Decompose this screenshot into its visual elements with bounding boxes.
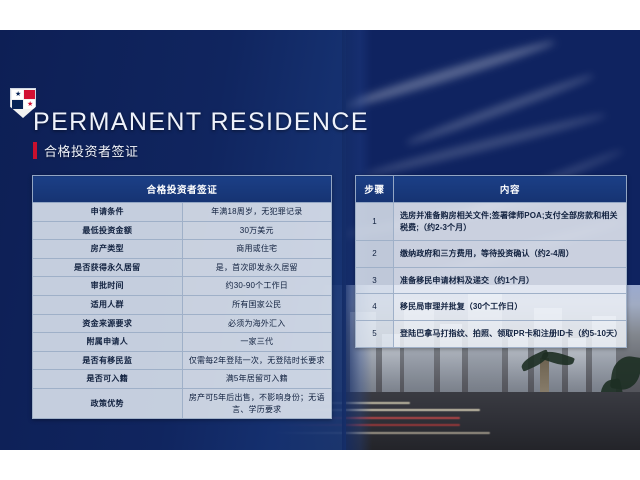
row-key: 资金来源要求: [33, 314, 183, 333]
row-value: 仅需每2年登陆一次，无登陆时长要求: [182, 351, 332, 370]
row-value: 约30-90个工作日: [182, 277, 332, 296]
page-title: PERMANENT RESIDENCE: [33, 108, 369, 137]
row-key: 申请条件: [33, 203, 183, 222]
table-row: 审批时间约30-90个工作日: [33, 277, 332, 296]
step-number: 2: [356, 241, 394, 268]
row-key: 是否有移民监: [33, 351, 183, 370]
table-row: 附属申请人一家三代: [33, 333, 332, 352]
table-row: 4移民局审理并批复（30个工作日）: [356, 294, 627, 321]
process-steps-table: 步骤 内容 1选房并准备购房相关文件;签署律师POA;支付全部房款和相关税费;（…: [355, 175, 627, 348]
table-header-row: 步骤 内容: [356, 176, 627, 203]
row-key: 是否获得永久居留: [33, 258, 183, 277]
row-key: 房产类型: [33, 240, 183, 259]
step-number: 4: [356, 294, 394, 321]
step-number: 3: [356, 267, 394, 294]
page-subtitle: 合格投资者签证: [33, 141, 139, 160]
row-value: 是，首次即发永久居留: [182, 258, 332, 277]
step-number: 1: [356, 203, 394, 241]
row-value: 满5年居留可入籍: [182, 370, 332, 389]
row-key: 是否可入籍: [33, 370, 183, 389]
table-row: 政策优势房产可5年后出售，不影响身份；无语言、学历要求: [33, 388, 332, 418]
step-content: 选房并准备购房相关文件;签署律师POA;支付全部房款和相关税费;（约2-3个月）: [394, 203, 627, 241]
right-table-body: 1选房并准备购房相关文件;签署律师POA;支付全部房款和相关税费;（约2-3个月…: [356, 203, 627, 348]
left-table-body: 申请条件年满18周岁，无犯罪记录最低投资金额30万美元房产类型商用或住宅是否获得…: [33, 203, 332, 419]
shield-star-red: ★: [27, 101, 33, 108]
row-value: 必须为海外汇入: [182, 314, 332, 333]
row-value: 房产可5年后出售，不影响身份；无语言、学历要求: [182, 388, 332, 418]
table-row: 房产类型商用或住宅: [33, 240, 332, 259]
table-row: 适用人群所有国家公民: [33, 295, 332, 314]
investor-visa-table: 合格投资者签证 申请条件年满18周岁，无犯罪记录最低投资金额30万美元房产类型商…: [32, 175, 332, 419]
table-row: 最低投资金额30万美元: [33, 221, 332, 240]
table-row: 资金来源要求必须为海外汇入: [33, 314, 332, 333]
row-value: 30万美元: [182, 221, 332, 240]
step-content: 准备移民申请材料及递交（约1个月）: [394, 267, 627, 294]
table-row: 是否可入籍满5年居留可入籍: [33, 370, 332, 389]
shield-quadrant-top-right: [24, 90, 35, 99]
row-key: 政策优势: [33, 388, 183, 418]
content-column-header: 内容: [394, 176, 627, 203]
row-key: 适用人群: [33, 295, 183, 314]
row-key: 最低投资金额: [33, 221, 183, 240]
subtitle-accent-bar: [33, 142, 37, 159]
left-table-header: 合格投资者签证: [33, 176, 332, 203]
row-value: 商用或住宅: [182, 240, 332, 259]
table-row: 是否获得永久居留是，首次即发永久居留: [33, 258, 332, 277]
table-row: 申请条件年满18周岁，无犯罪记录: [33, 203, 332, 222]
table-row: 是否有移民监仅需每2年登陆一次，无登陆时长要求: [33, 351, 332, 370]
row-value: 一家三代: [182, 333, 332, 352]
shield-quadrant-bottom-left: [12, 100, 23, 109]
row-value: 所有国家公民: [182, 295, 332, 314]
row-value: 年满18周岁，无犯罪记录: [182, 203, 332, 222]
table-row: 2缴纳政府和三方费用，等待投资确认（约2-4周）: [356, 241, 627, 268]
table-row: 5登陆巴拿马打指纹、拍照、领取PR卡和注册ID卡（约5-10天）: [356, 320, 627, 347]
row-key: 附属申请人: [33, 333, 183, 352]
table-row: 1选房并准备购房相关文件;签署律师POA;支付全部房款和相关税费;（约2-3个月…: [356, 203, 627, 241]
subtitle-label: 合格投资者签证: [44, 141, 139, 160]
step-content: 缴纳政府和三方费用，等待投资确认（约2-4周）: [394, 241, 627, 268]
step-column-header: 步骤: [356, 176, 394, 203]
step-number: 5: [356, 320, 394, 347]
step-content: 登陆巴拿马打指纹、拍照、领取PR卡和注册ID卡（约5-10天）: [394, 320, 627, 347]
row-key: 审批时间: [33, 277, 183, 296]
table-header-row: 合格投资者签证: [33, 176, 332, 203]
table-row: 3准备移民申请材料及递交（约1个月）: [356, 267, 627, 294]
slide-canvas: ★ ★ PERMANENT RESIDENCE 合格投资者签证 合格投资者签证 …: [0, 30, 640, 450]
shield-star-blue: ★: [15, 91, 21, 98]
step-content: 移民局审理并批复（30个工作日）: [394, 294, 627, 321]
